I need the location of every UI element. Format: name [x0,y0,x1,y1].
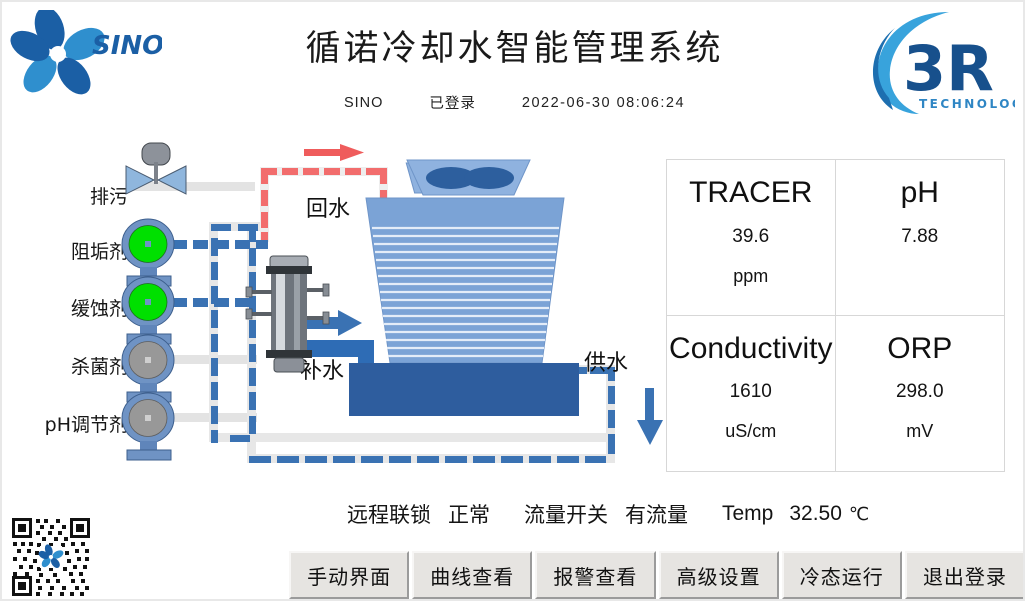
interlock-label: 远程联锁 [347,499,431,529]
measurement-tracer: TRACER 39.6 ppm [667,160,836,316]
flow-switch-value: 有流量 [625,499,688,529]
3r-wordmark: 3R [903,32,994,105]
pump-antiscalant[interactable] [122,219,174,286]
orp-value: 298.0 [896,381,944,403]
label-return-water: 回水 [306,197,350,222]
tracer-unit: ppm [733,266,768,287]
scada-screen: SINO 循诺冷却水智能管理系统 SINO 已登录 2022-06-30 08:… [0,0,1025,601]
process-diagram: 回水 [2,120,667,490]
label-supply-water: 供水 [584,351,628,376]
pipe-blowdown [130,182,255,191]
supply-flow-arrow [637,388,663,445]
button-trend-view[interactable]: 曲线查看 [412,551,532,599]
button-logout[interactable]: 退出登录 [905,551,1025,599]
conductivity-title: Conductivity [669,330,832,368]
tracer-title: TRACER [689,174,812,212]
status-row: 远程联锁 正常 流量开关 有流量 Temp 32.50 ℃ [347,497,1019,531]
qr-code[interactable] [9,515,93,599]
current-user: SINO [344,95,383,111]
label-makeup-water: 补水 [300,359,344,384]
pump-biocide[interactable] [122,335,174,402]
temp-label: Temp [722,502,773,526]
return-flow-arrow [304,144,364,161]
3r-tagline: TECHNOLOGY [919,97,1015,111]
datetime: 2022-06-30 08:06:24 [522,95,685,111]
measurement-panel: TRACER 39.6 ppm pH 7.88 Conductivity 161… [666,159,1005,472]
conductivity-value: 1610 [730,381,772,403]
ph-value: 7.88 [901,226,938,248]
temp-unit: ℃ [849,504,869,525]
ph-title: pH [901,174,939,212]
button-bar: 手动界面 曲线查看 报警查看 高级设置 冷态运行 退出登录 [289,551,1025,599]
button-cold-run[interactable]: 冷态运行 [782,551,902,599]
temp-value: 32.50 [789,502,842,526]
cooling-tower [349,160,579,416]
measurement-orp: ORP 298.0 mV [836,316,1005,472]
button-manual-interface[interactable]: 手动界面 [289,551,409,599]
makeup-flow-arrow [302,310,362,336]
button-advanced-settings[interactable]: 高级设置 [659,551,779,599]
flow-switch-label: 流量开关 [524,499,608,529]
orp-unit: mV [906,421,933,442]
orp-title: ORP [887,330,952,368]
pump-ph-adjust[interactable] [122,393,174,460]
measurement-ph: pH 7.88 [836,160,1005,316]
button-alarm-view[interactable]: 报警查看 [535,551,655,599]
tracer-value: 39.6 [732,226,769,248]
conductivity-unit: uS/cm [725,421,776,442]
3r-technology-logo: 3R TECHNOLOGY [857,6,1015,118]
tower-basin [349,363,579,416]
measurement-conductivity: Conductivity 1610 uS/cm [667,316,836,472]
login-status: 已登录 [429,92,476,113]
pump-inhibitor[interactable] [122,277,174,344]
interlock-value: 正常 [448,499,490,529]
